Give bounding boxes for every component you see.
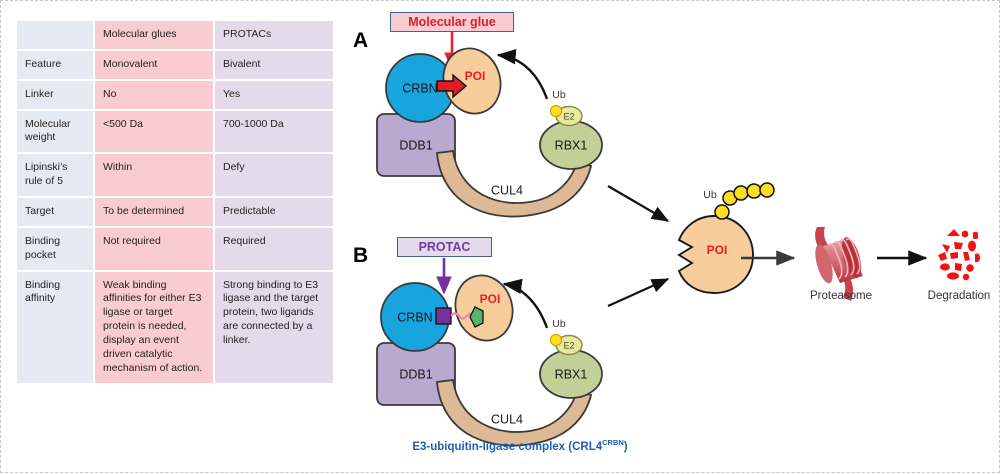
ubiquitin-transfer-arrow (498, 55, 547, 99)
ubiquitinated-poi-group: POI Ub (679, 183, 774, 293)
degradation-fragment (963, 274, 969, 280)
ddb1-label: DDB1 (399, 138, 432, 152)
degradation-fragment (947, 229, 960, 236)
degradation-fragment (947, 272, 959, 279)
degradation-fragment (975, 254, 980, 263)
poi-label: POI (707, 243, 728, 257)
crbn-label: CRBN (397, 310, 432, 324)
degradation-fragment (973, 232, 978, 239)
panel-a-complex: CRBN POI DDB1 CUL4 RBX1 E2 Ub (377, 32, 602, 217)
e2-label: E2 (563, 111, 574, 121)
degradation-fragment (942, 244, 950, 253)
figure-container: Molecular glues PROTACs Feature Monovale… (0, 0, 1000, 473)
degradation-fragment (955, 263, 962, 271)
panel-b-complex: CRBN POI DDB1 CUL4 RBX1 E2 Ub (377, 258, 602, 446)
degradation-fragment (966, 264, 974, 272)
ub-dot (550, 105, 561, 116)
degradation-label: Degradation (928, 290, 991, 302)
cul4-label: CUL4 (491, 183, 523, 197)
poi-label: POI (465, 69, 486, 83)
degradation-fragment (940, 263, 950, 270)
complex-caption-tail: ) (624, 441, 628, 453)
ub-chain-label: Ub (703, 189, 717, 201)
protac-e3-ligand-symbol (436, 308, 451, 324)
panel-a-to-poi-arrow (608, 186, 668, 221)
degradation-fragment (968, 241, 976, 252)
rbx1-label: RBX1 (555, 138, 588, 152)
poi-label: POI (480, 292, 501, 306)
degradation-fragment (963, 252, 970, 261)
proteasome-label: Proteasome (810, 290, 872, 302)
crbn-label: CRBN (402, 81, 437, 95)
ub-chain-dot (747, 184, 761, 198)
proteasome-group: Proteasome (810, 227, 872, 302)
degradation-fragment (950, 252, 958, 259)
degradation-fragment (954, 242, 963, 249)
pathway-diagram: CRBN POI DDB1 CUL4 RBX1 E2 Ub (1, 1, 1000, 474)
poi-shape (447, 268, 521, 348)
complex-caption-main: E3-ubiquitin-ligase complex (CRL4 (412, 441, 602, 453)
ub-chain-dot (734, 186, 748, 200)
degradation-group: Degradation (928, 229, 991, 302)
ub-chain-dot (715, 205, 729, 219)
e2-label: E2 (563, 340, 574, 350)
degradation-fragment (938, 252, 947, 261)
complex-caption-superscript: CRBN (602, 438, 624, 447)
degradation-fragment (962, 231, 969, 238)
ub-label: Ub (552, 318, 566, 330)
ub-chain-dot (760, 183, 774, 197)
cul4-label: CUL4 (491, 412, 523, 426)
ub-dot (550, 334, 561, 345)
rbx1-label: RBX1 (555, 367, 588, 381)
complex-caption: E3-ubiquitin-ligase complex (CRL4CRBN) (412, 438, 627, 453)
panel-b-to-poi-arrow (608, 279, 668, 306)
ddb1-label: DDB1 (399, 367, 432, 381)
ub-label: Ub (552, 89, 566, 101)
